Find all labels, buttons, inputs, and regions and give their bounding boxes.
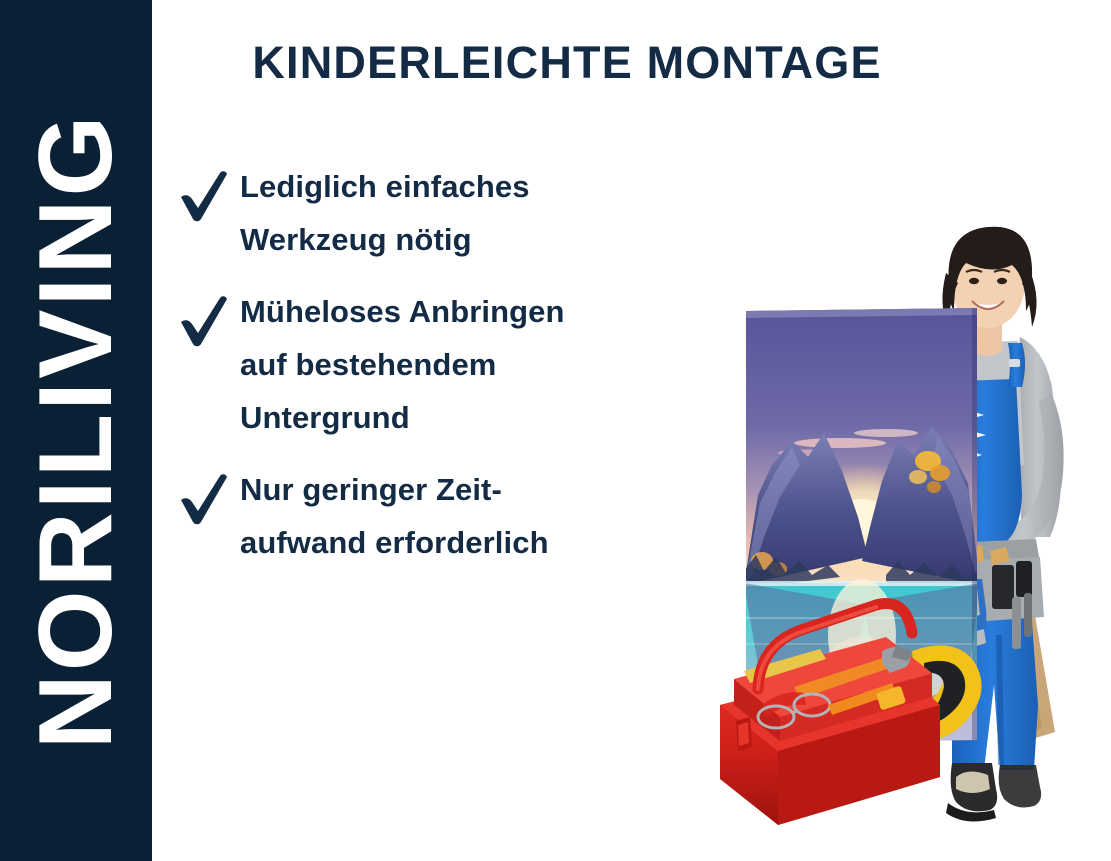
brand-name-vertical: NORILIVING bbox=[24, 112, 128, 749]
work-boot bbox=[946, 763, 997, 822]
checkmark-icon bbox=[178, 170, 230, 224]
list-item-line: auf bestehendem bbox=[240, 347, 496, 382]
list-item: Müheloses Anbringen auf bestehendem Unte… bbox=[178, 285, 698, 445]
feature-list: Lediglich einfaches Werkzeug nötig Mühel… bbox=[178, 160, 698, 587]
product-photo bbox=[700, 165, 1111, 830]
work-boot bbox=[999, 765, 1041, 807]
list-item-line: Müheloses Anbringen bbox=[240, 294, 565, 329]
list-item-line: aufwand erforderlich bbox=[240, 525, 549, 560]
list-item-line: Nur geringer Zeit- bbox=[240, 472, 502, 507]
list-item: Nur geringer Zeit- aufwand erforderlich bbox=[178, 463, 698, 570]
list-item-label: Nur geringer Zeit- aufwand erforderlich bbox=[240, 463, 698, 570]
checkmark-icon bbox=[178, 473, 230, 527]
page-title: KINDERLEICHTE MONTAGE bbox=[152, 38, 982, 88]
promo-banner: NORILIVING KINDERLEICHTE MONTAGE Ledigli… bbox=[0, 0, 1111, 861]
brand-sidebar: NORILIVING bbox=[0, 0, 152, 861]
list-item-line: Lediglich einfaches bbox=[240, 169, 530, 204]
checkmark-icon bbox=[178, 295, 230, 349]
list-item-label: Müheloses Anbringen auf bestehendem Unte… bbox=[240, 285, 698, 445]
list-item-line: Untergrund bbox=[240, 400, 410, 435]
list-item: Lediglich einfaches Werkzeug nötig bbox=[178, 160, 698, 267]
list-item-line: Werkzeug nötig bbox=[240, 222, 472, 257]
list-item-label: Lediglich einfaches Werkzeug nötig bbox=[240, 160, 698, 267]
